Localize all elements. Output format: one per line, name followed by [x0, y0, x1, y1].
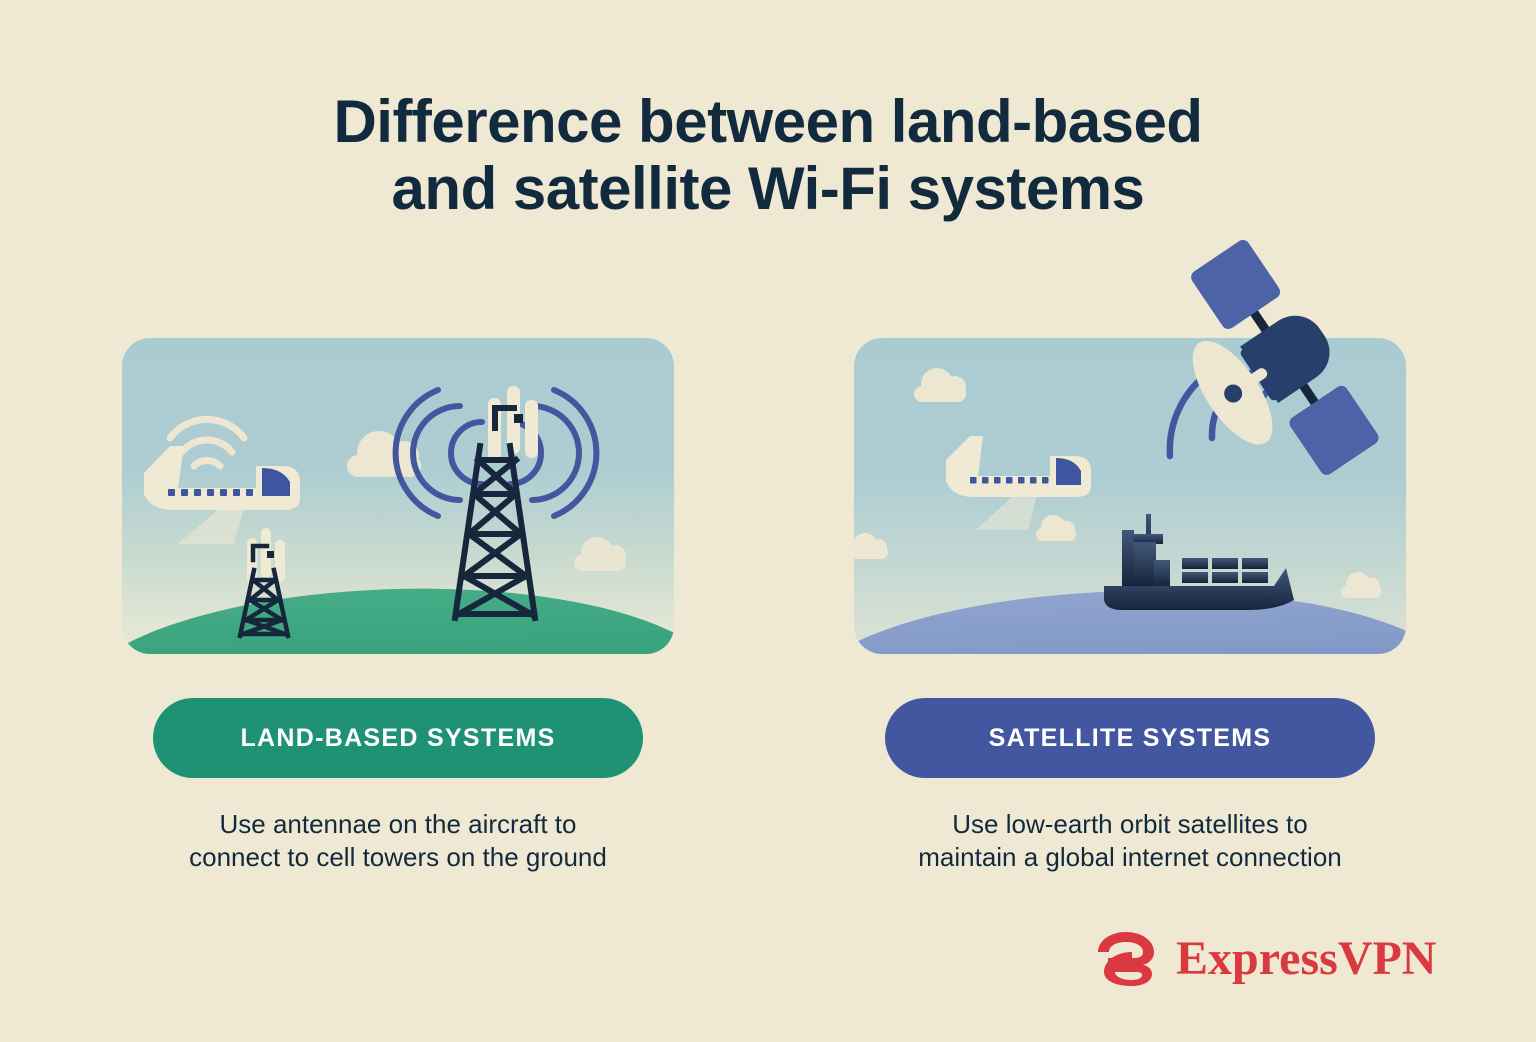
- solar-panel: [1188, 237, 1282, 331]
- column-satellite: SATELLITE SYSTEMS Use low-earth orbit sa…: [854, 338, 1406, 654]
- expressvpn-wordmark: ExpressVPN: [1176, 935, 1436, 983]
- airplane-icon: [946, 436, 1091, 530]
- caption-satellite-line-2: maintain a global internet connection: [830, 841, 1430, 874]
- page-title: Difference between land-based and satell…: [0, 88, 1536, 222]
- infographic-canvas: Difference between land-based and satell…: [0, 0, 1536, 1042]
- land-based-illustration-card: [122, 338, 674, 654]
- caption-land-based: Use antennae on the aircraft to connect …: [98, 808, 698, 875]
- satellite-card-clip: [854, 338, 1406, 654]
- caption-land-based-line-1: Use antennae on the aircraft to: [98, 808, 698, 841]
- page-title-line-1: Difference between land-based: [0, 88, 1536, 155]
- expressvpn-e-mark-icon: [1096, 928, 1162, 990]
- satellite-illustration-card: [854, 338, 1406, 654]
- pill-satellite-systems[interactable]: SATELLITE SYSTEMS: [885, 698, 1375, 778]
- caption-satellite: Use low-earth orbit satellites to mainta…: [830, 808, 1430, 875]
- pill-land-based-systems[interactable]: LAND-BASED SYSTEMS: [153, 698, 643, 778]
- caption-land-based-line-2: connect to cell towers on the ground: [98, 841, 698, 874]
- cargo-ship-icon: [1104, 514, 1294, 610]
- pill-satellite-label: SATELLITE SYSTEMS: [989, 724, 1272, 753]
- signal-arcs-icon: [1170, 360, 1282, 456]
- land-based-card-clip: [122, 338, 674, 654]
- page-title-line-2: and satellite Wi-Fi systems: [0, 155, 1536, 222]
- caption-satellite-line-1: Use low-earth orbit satellites to: [830, 808, 1430, 841]
- satellite-scene: [854, 338, 1406, 654]
- airplane-icon: [144, 446, 300, 544]
- expressvpn-logo[interactable]: ExpressVPN: [1096, 928, 1436, 990]
- land-based-scene: [122, 338, 674, 654]
- pill-land-based-label: LAND-BASED SYSTEMS: [240, 724, 555, 753]
- column-land-based: LAND-BASED SYSTEMS Use antennae on the a…: [122, 338, 674, 654]
